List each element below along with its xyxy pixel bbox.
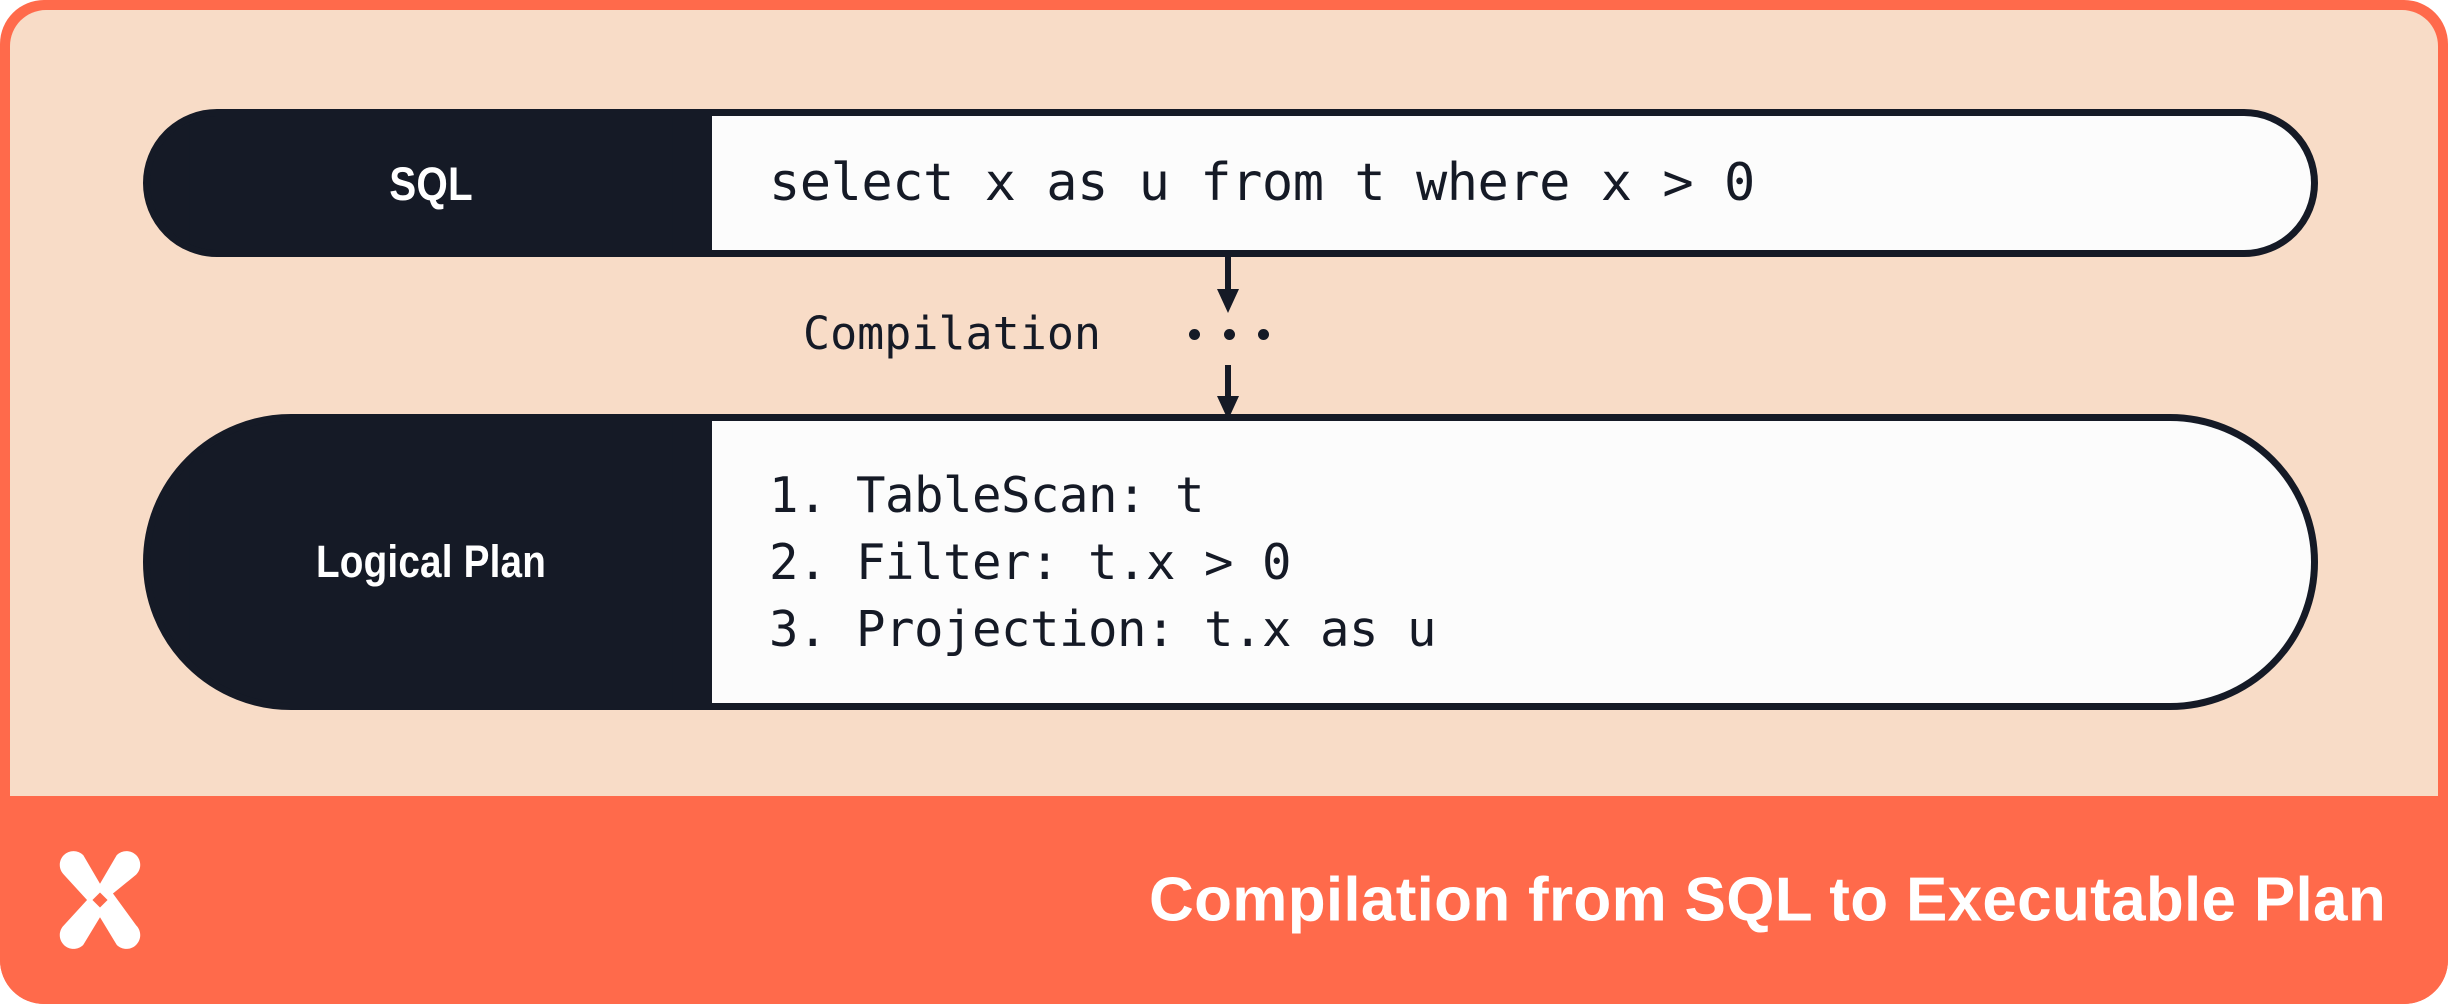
logical-plan-node-label: Logical Plan [189,421,672,703]
sql-node-label: SQL [189,116,672,250]
logical-plan-node: Logical Plan 1. TableScan: t 2. Filter: … [143,414,2318,710]
arrow-shaft [1225,365,1231,398]
ellipsis-dot [1224,329,1235,340]
arrow-down-icon [1217,257,1239,313]
ellipsis-icon [1189,329,1269,340]
plan-step: 1. TableScan: t [769,462,2311,529]
diagram-stage: SQL select x as u from t where x > 0 Com… [10,10,2438,796]
sql-node: SQL select x as u from t where x > 0 [143,109,2318,257]
ellipsis-dot [1189,329,1200,340]
arrow-down-icon [1217,365,1239,420]
compilation-label: Compilation [803,307,1101,360]
figure-caption: Compilation from SQL to Executable Plan [1149,865,2386,936]
arrow-head [1217,289,1239,313]
logical-plan-node-body: 1. TableScan: t 2. Filter: t.x > 0 3. Pr… [712,421,2311,703]
compilation-flow: Compilation [143,257,2318,414]
plan-step: 2. Filter: t.x > 0 [769,529,2311,596]
ellipsis-dot [1258,329,1269,340]
sql-node-body: select x as u from t where x > 0 [712,116,2311,250]
sql-query-text: select x as u from t where x > 0 [769,157,2311,209]
caption-banner: Compilation from SQL to Executable Plan [0,796,2448,1004]
arrow-shaft [1225,257,1231,291]
plan-step: 3. Projection: t.x as u [769,596,2311,663]
x-star-logo-icon [46,846,154,954]
figure-frame: SQL select x as u from t where x > 0 Com… [0,0,2448,1004]
